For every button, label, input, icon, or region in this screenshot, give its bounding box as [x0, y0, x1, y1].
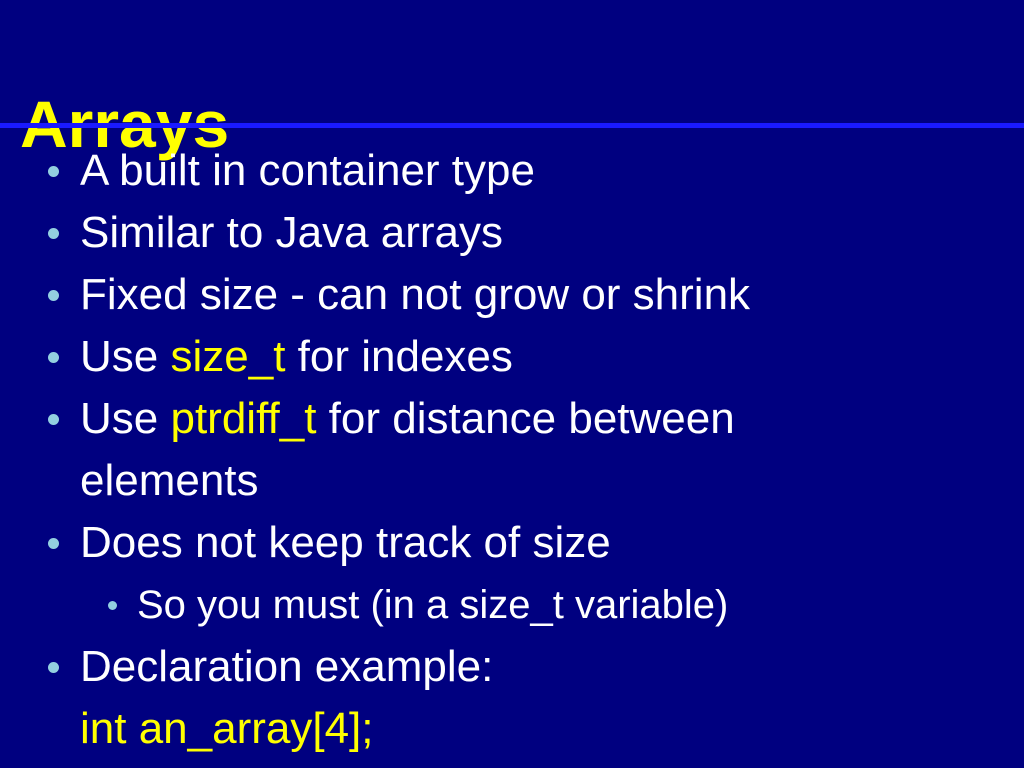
list-item-text: Use	[80, 332, 170, 381]
presentation-slide: Arrays A built in container typeSimilar …	[0, 0, 1024, 768]
title-divider-rule	[0, 123, 1024, 128]
list-item-text: Does not keep track of size	[80, 518, 611, 567]
list-item-text: Declaration example:	[80, 642, 493, 691]
list-item-text: So you must (in a size_t variable)	[137, 583, 728, 627]
list-item-continuation: int an_array[4];	[0, 698, 1024, 760]
list-item-text: for distance between	[316, 394, 734, 443]
list-item-text: A built in container type	[80, 146, 535, 195]
bullet-marker-icon	[48, 228, 59, 239]
bullet-marker-icon	[48, 414, 59, 425]
list-item-text: Fixed size - can not grow or shrink	[80, 270, 750, 319]
list-item: Fixed size - can not grow or shrink	[0, 264, 1024, 326]
list-item-continuation: elements	[0, 450, 1024, 512]
list-item: Use size_t for indexes	[0, 326, 1024, 388]
list-item: Use ptrdiff_t for distance between	[0, 388, 1024, 450]
list-item-text: for indexes	[285, 332, 512, 381]
list-item: A built in container type	[0, 140, 1024, 202]
slide-body-list: A built in container typeSimilar to Java…	[0, 140, 1024, 760]
list-item: Similar to Java arrays	[0, 202, 1024, 264]
bullet-marker-icon	[48, 538, 59, 549]
list-item-text: Use	[80, 394, 170, 443]
bullet-marker-icon	[48, 352, 59, 363]
sub-list-item: So you must (in a size_t variable)	[0, 574, 1024, 636]
list-item: Declaration example:	[0, 636, 1024, 698]
bullet-marker-icon	[48, 166, 59, 177]
bullet-marker-icon	[48, 662, 59, 673]
list-item-text: Similar to Java arrays	[80, 208, 503, 257]
code-token: int an_array[4];	[80, 704, 374, 753]
list-item: Does not keep track of size	[0, 512, 1024, 574]
bullet-marker-icon	[48, 290, 59, 301]
list-item-text: elements	[80, 456, 259, 505]
sub-bullet-marker-icon	[108, 601, 117, 610]
code-token: ptrdiff_t	[170, 394, 316, 443]
code-token: size_t	[170, 332, 285, 381]
